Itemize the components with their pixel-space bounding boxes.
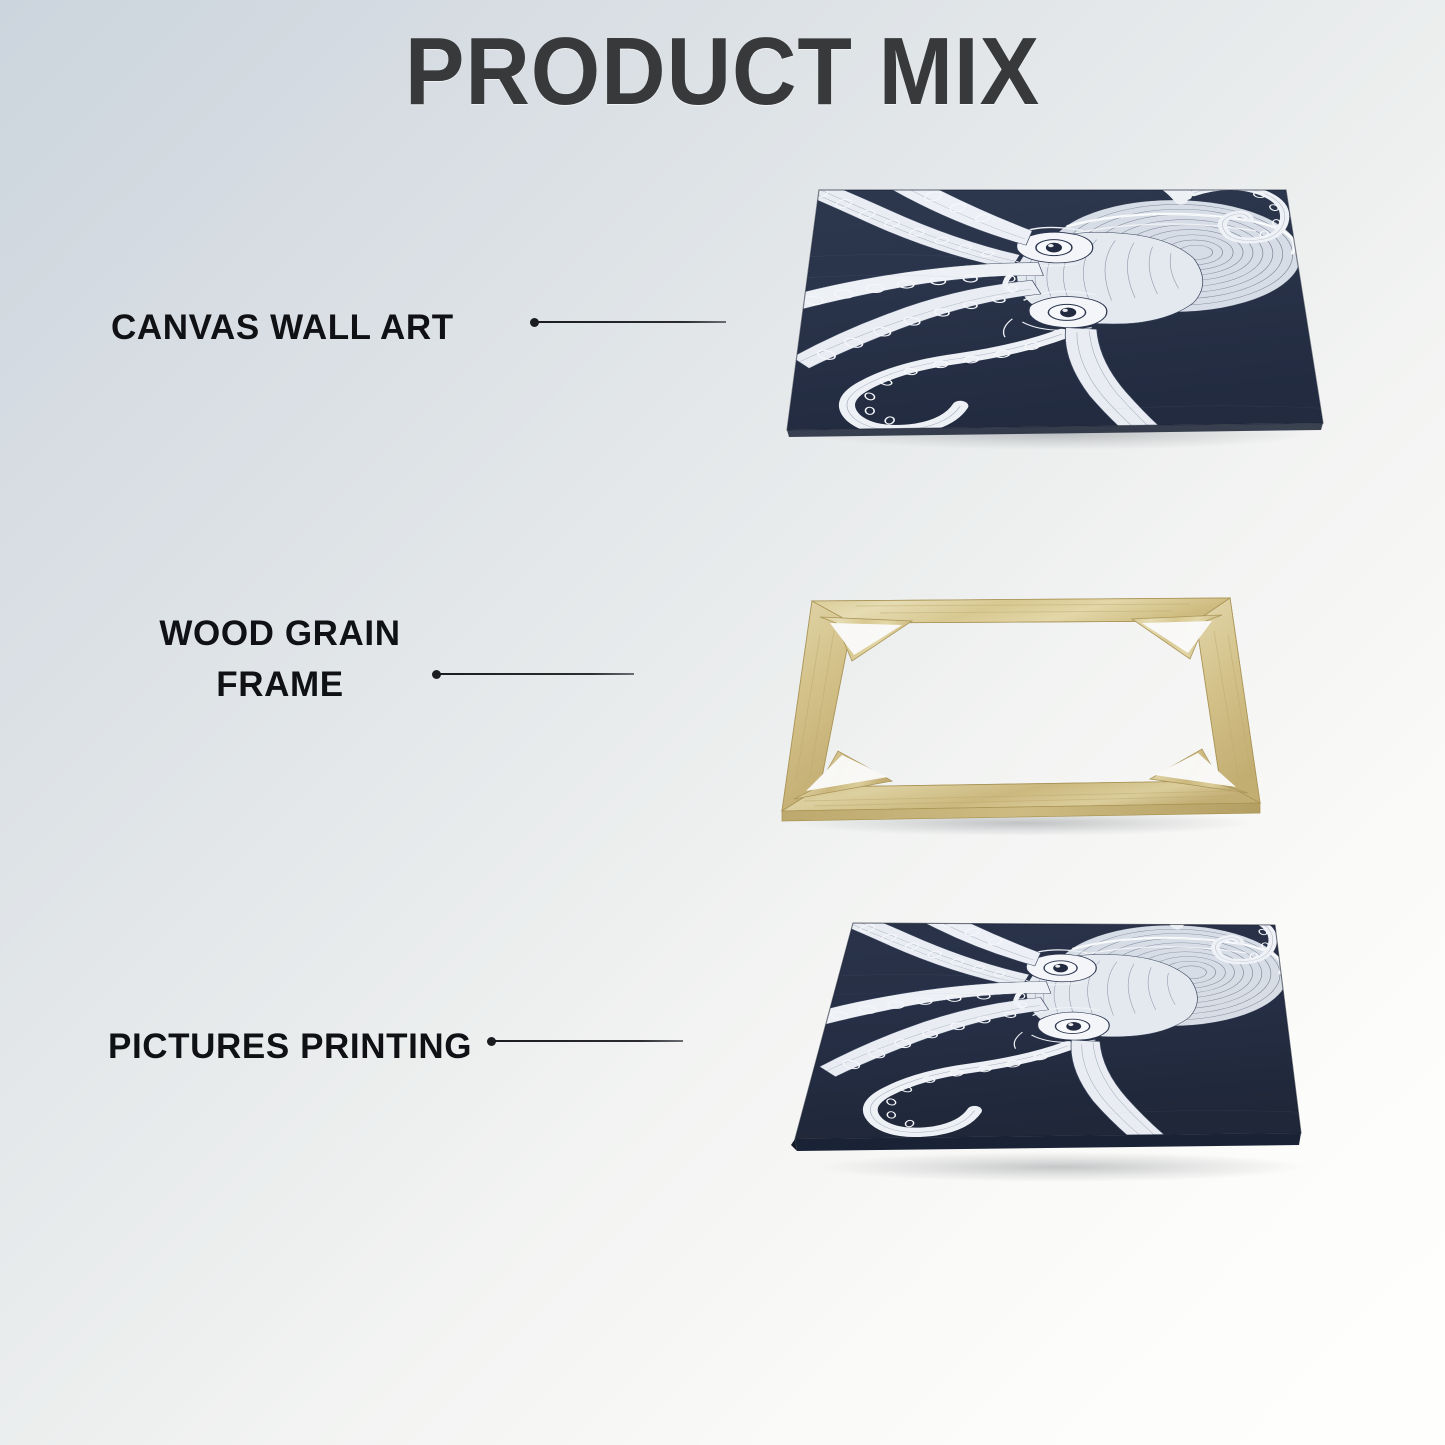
- callout-label-pictures-printing: PICTURES PRINTING: [108, 1022, 472, 1073]
- product-mix-poster: PRODUCT MIX: [0, 0, 1445, 1445]
- leader-rule-canvas-wall-art: [537, 321, 726, 323]
- product-wood-grain-frame[interactable]: [760, 575, 1280, 830]
- print-artwork: [783, 882, 1325, 1153]
- page-title: PRODUCT MIX: [51, 22, 1395, 123]
- leader-line-canvas-wall-art: [530, 315, 726, 329]
- leader-rule-wood-grain-frame: [439, 673, 634, 675]
- leader-rule-pictures-printing: [494, 1040, 683, 1042]
- pictures-print-render: [775, 895, 1335, 1190]
- product-canvas-wall-art[interactable]: [770, 168, 1340, 448]
- print-shadow: [816, 1152, 1306, 1182]
- wood-frame-render: [760, 575, 1280, 840]
- callout-label-wood-grain-frame: WOOD GRAIN FRAME: [155, 609, 405, 711]
- callout-label-canvas-wall-art: CANVAS WALL ART: [111, 303, 454, 354]
- canvas-wall-art-render: [770, 168, 1340, 458]
- canvas-artwork: [752, 152, 1341, 453]
- product-pictures-printing[interactable]: [775, 895, 1335, 1180]
- leader-line-pictures-printing: [487, 1034, 683, 1048]
- leader-line-wood-grain-frame: [432, 667, 634, 681]
